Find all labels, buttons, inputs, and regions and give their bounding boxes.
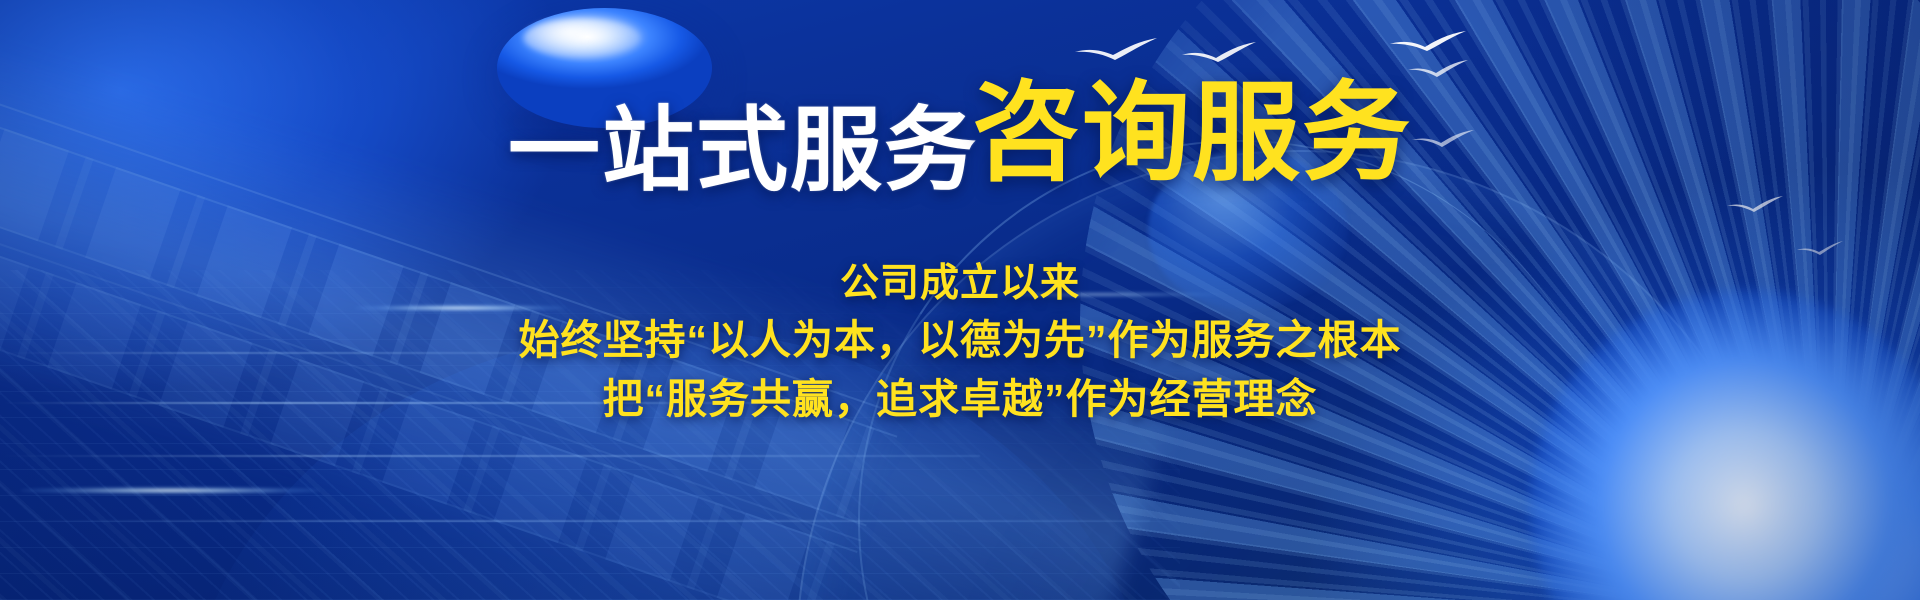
seagull-icon	[1073, 36, 1159, 62]
subheading-line-3: 把“服务共赢，追求卓越”作为经营理念	[0, 370, 1920, 428]
horizontal-line-decor	[0, 455, 980, 457]
lens-flare-decor	[20, 487, 320, 494]
subheading-line-2: 始终坚持“以人为本，以德为先”作为服务之根本	[0, 311, 1920, 369]
headline-accent: 咨询服务	[972, 72, 1412, 193]
promotional-banner: 一站式服务咨询服务 公司成立以来 始终坚持“以人为本，以德为先”作为服务之根本 …	[0, 0, 1920, 600]
subheading-line-1: 公司成立以来	[0, 256, 1920, 311]
headline-primary: 一站式服务	[508, 100, 978, 202]
headline: 一站式服务咨询服务	[0, 88, 1920, 201]
subheading-block: 公司成立以来 始终坚持“以人为本，以德为先”作为服务之根本 把“服务共赢，追求卓…	[0, 256, 1920, 428]
